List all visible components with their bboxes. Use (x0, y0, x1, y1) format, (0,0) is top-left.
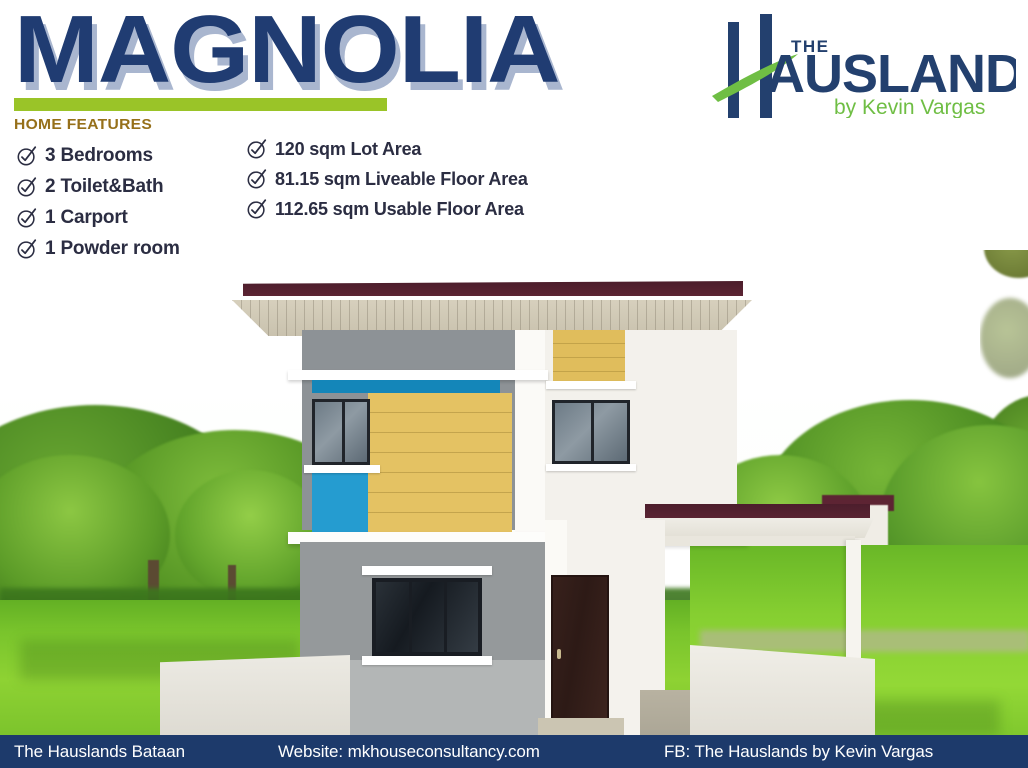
footer-bar: The Hauslands Bataan Website: mkhousecon… (0, 735, 1028, 768)
ground-window-sill (362, 656, 492, 665)
carport-soffit (640, 518, 874, 538)
window-sill-right (546, 464, 636, 471)
features-column-left: 3 Bedrooms 2 Toilet&Bath (16, 142, 180, 266)
window-mullion (409, 582, 412, 652)
feature-label: 2 Toilet&Bath (45, 176, 163, 198)
window-sill-left (304, 465, 380, 473)
second-floor-window-right (552, 400, 630, 464)
footer-location: The Hauslands Bataan (14, 742, 185, 762)
blue-accent-block (312, 472, 370, 534)
poster-canvas: MAGNOLIA MAGNOLIA HOME FEATURES THE AUSL… (0, 0, 1028, 768)
carport-beam (655, 536, 855, 546)
yellow-panel-slats (368, 393, 512, 534)
logo-name-text: AUSLANDS (766, 44, 1016, 104)
second-floor-window-left (312, 399, 370, 465)
feature-item: 81.15 sqm Liveable Floor Area (246, 166, 528, 192)
hauslands-logo[interactable]: THE AUSLANDS by Kevin Vargas (706, 14, 1016, 118)
window-mullion (342, 402, 345, 462)
feature-label: 3 Bedrooms (45, 145, 153, 167)
feature-label: 1 Carport (45, 207, 128, 229)
blue-accent-band (312, 380, 500, 393)
perimeter-wall-left (160, 655, 350, 745)
feature-item: 1 Powder room (16, 235, 180, 262)
page-title: MAGNOLIA MAGNOLIA (14, 2, 529, 98)
upper-panel-slats (553, 330, 625, 382)
feature-label: 120 sqm Lot Area (275, 139, 421, 160)
page-title-text: MAGNOLIA (14, 2, 559, 98)
ground-floor-window (372, 578, 482, 656)
check-circle-icon (16, 176, 38, 198)
door-knob (557, 649, 561, 659)
logo-h-left-bar (728, 22, 739, 118)
footer-facebook[interactable]: FB: The Hauslands by Kevin Vargas (664, 742, 933, 762)
window-glass (315, 402, 367, 462)
window-canopy (288, 370, 548, 380)
check-circle-icon (246, 198, 268, 220)
green-accent-bar (14, 98, 387, 111)
features-column-right: 120 sqm Lot Area 81.15 sqm Liveable Floo… (246, 136, 528, 226)
feature-label: 81.15 sqm Liveable Floor Area (275, 169, 528, 190)
check-circle-icon (16, 207, 38, 229)
check-circle-icon (246, 168, 268, 190)
header-band: MAGNOLIA MAGNOLIA HOME FEATURES THE AUSL… (0, 0, 1028, 250)
home-features-heading: HOME FEATURES (14, 116, 152, 133)
feature-item: 2 Toilet&Bath (16, 173, 180, 200)
perimeter-wall-right (690, 645, 875, 745)
second-floor-yellow-panel (368, 393, 512, 534)
feature-item: 1 Carport (16, 204, 180, 231)
feature-item: 120 sqm Lot Area (246, 136, 528, 162)
front-door (551, 575, 609, 720)
upper-yellow-panel (553, 330, 625, 382)
feature-label: 112.65 sqm Usable Floor Area (275, 199, 524, 220)
check-circle-icon (246, 138, 268, 160)
window-mullion (591, 403, 594, 461)
feature-label: 1 Powder room (45, 238, 180, 260)
second-floor-column (515, 330, 545, 535)
window-header-right (546, 381, 636, 389)
check-circle-icon (16, 238, 38, 260)
footer-website[interactable]: Website: mkhouseconsultancy.com (278, 742, 540, 762)
ground-window-header (362, 566, 492, 575)
feature-item: 3 Bedrooms (16, 142, 180, 169)
window-glass (376, 582, 478, 652)
feature-item: 112.65 sqm Usable Floor Area (246, 196, 528, 222)
check-circle-icon (16, 145, 38, 167)
logo-byline-text: by Kevin Vargas (834, 96, 985, 118)
window-mullion (444, 582, 447, 652)
